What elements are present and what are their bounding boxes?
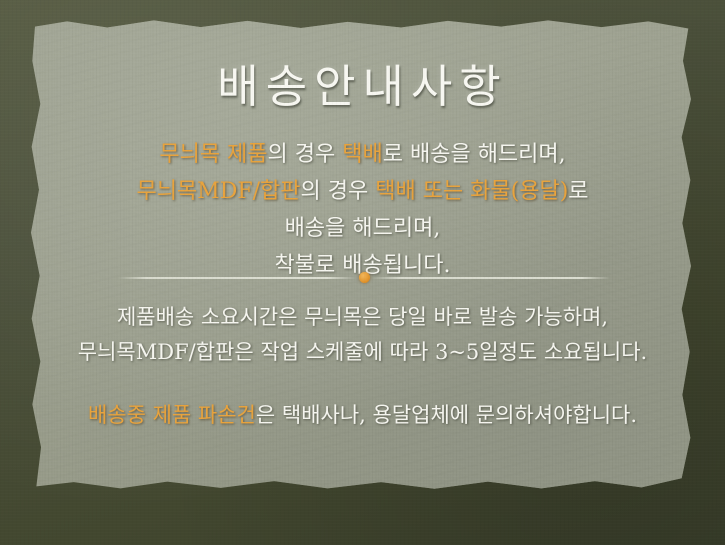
highlight-product-mdf: 무늬목MDF/합판 [136, 179, 300, 204]
shipping-method-block: 무늬목 제품의 경우 택배로 배송을 해드리며, 무늬목MDF/합판의 경우 택… [0, 136, 725, 284]
lead-time-line-1: 제품배송 소요시간은 무늬목은 당일 바로 발송 가능하며, [0, 300, 725, 335]
damage-notice-text: 은 택배사나, 용달업체에 문의하셔야합니다. [256, 403, 637, 427]
slide-content: 배송안내사항 무늬목 제품의 경우 택배로 배송을 해드리며, 무늬목MDF/합… [0, 0, 725, 545]
page-title: 배송안내사항 [0, 62, 725, 112]
shipping-line-2-text-b: 로 [568, 179, 588, 204]
divider [118, 272, 610, 284]
highlight-damage-case: 배송중 제품 파손건 [88, 403, 256, 427]
damage-notice-block: 배송중 제품 파손건은 택배사나, 용달업체에 문의하셔야합니다. [0, 398, 725, 433]
highlight-product-veneer: 무늬목 제품 [159, 142, 267, 167]
shipping-line-1: 무늬목 제품의 경우 택배로 배송을 해드리며, [0, 136, 725, 173]
divider-rule-right [372, 277, 610, 279]
lead-time-block: 제품배송 소요시간은 무늬목은 당일 바로 발송 가능하며, 무늬목MDF/합판… [0, 300, 725, 370]
shipping-line-1-text-b: 로 배송을 해드리며, [383, 142, 566, 167]
lead-time-line-2: 무늬목MDF/합판은 작업 스케줄에 따라 3~5일정도 소요됩니다. [0, 335, 725, 370]
shipping-line-3: 배송을 해드리며, [0, 210, 725, 247]
slide: 배송안내사항 무늬목 제품의 경우 택배로 배송을 해드리며, 무늬목MDF/합… [0, 0, 725, 545]
shipping-line-2: 무늬목MDF/합판의 경우 택배 또는 화물(용달)로 [0, 173, 725, 210]
divider-dot-icon [359, 272, 370, 283]
highlight-parcel-or-freight: 택배 또는 화물(용달) [375, 179, 568, 204]
damage-notice-line: 배송중 제품 파손건은 택배사나, 용달업체에 문의하셔야합니다. [0, 398, 725, 433]
highlight-parcel: 택배 [342, 142, 382, 167]
divider-rule-left [118, 277, 356, 279]
shipping-line-1-text-a: 의 경우 [268, 142, 343, 167]
shipping-line-2-text-a: 의 경우 [301, 179, 376, 204]
